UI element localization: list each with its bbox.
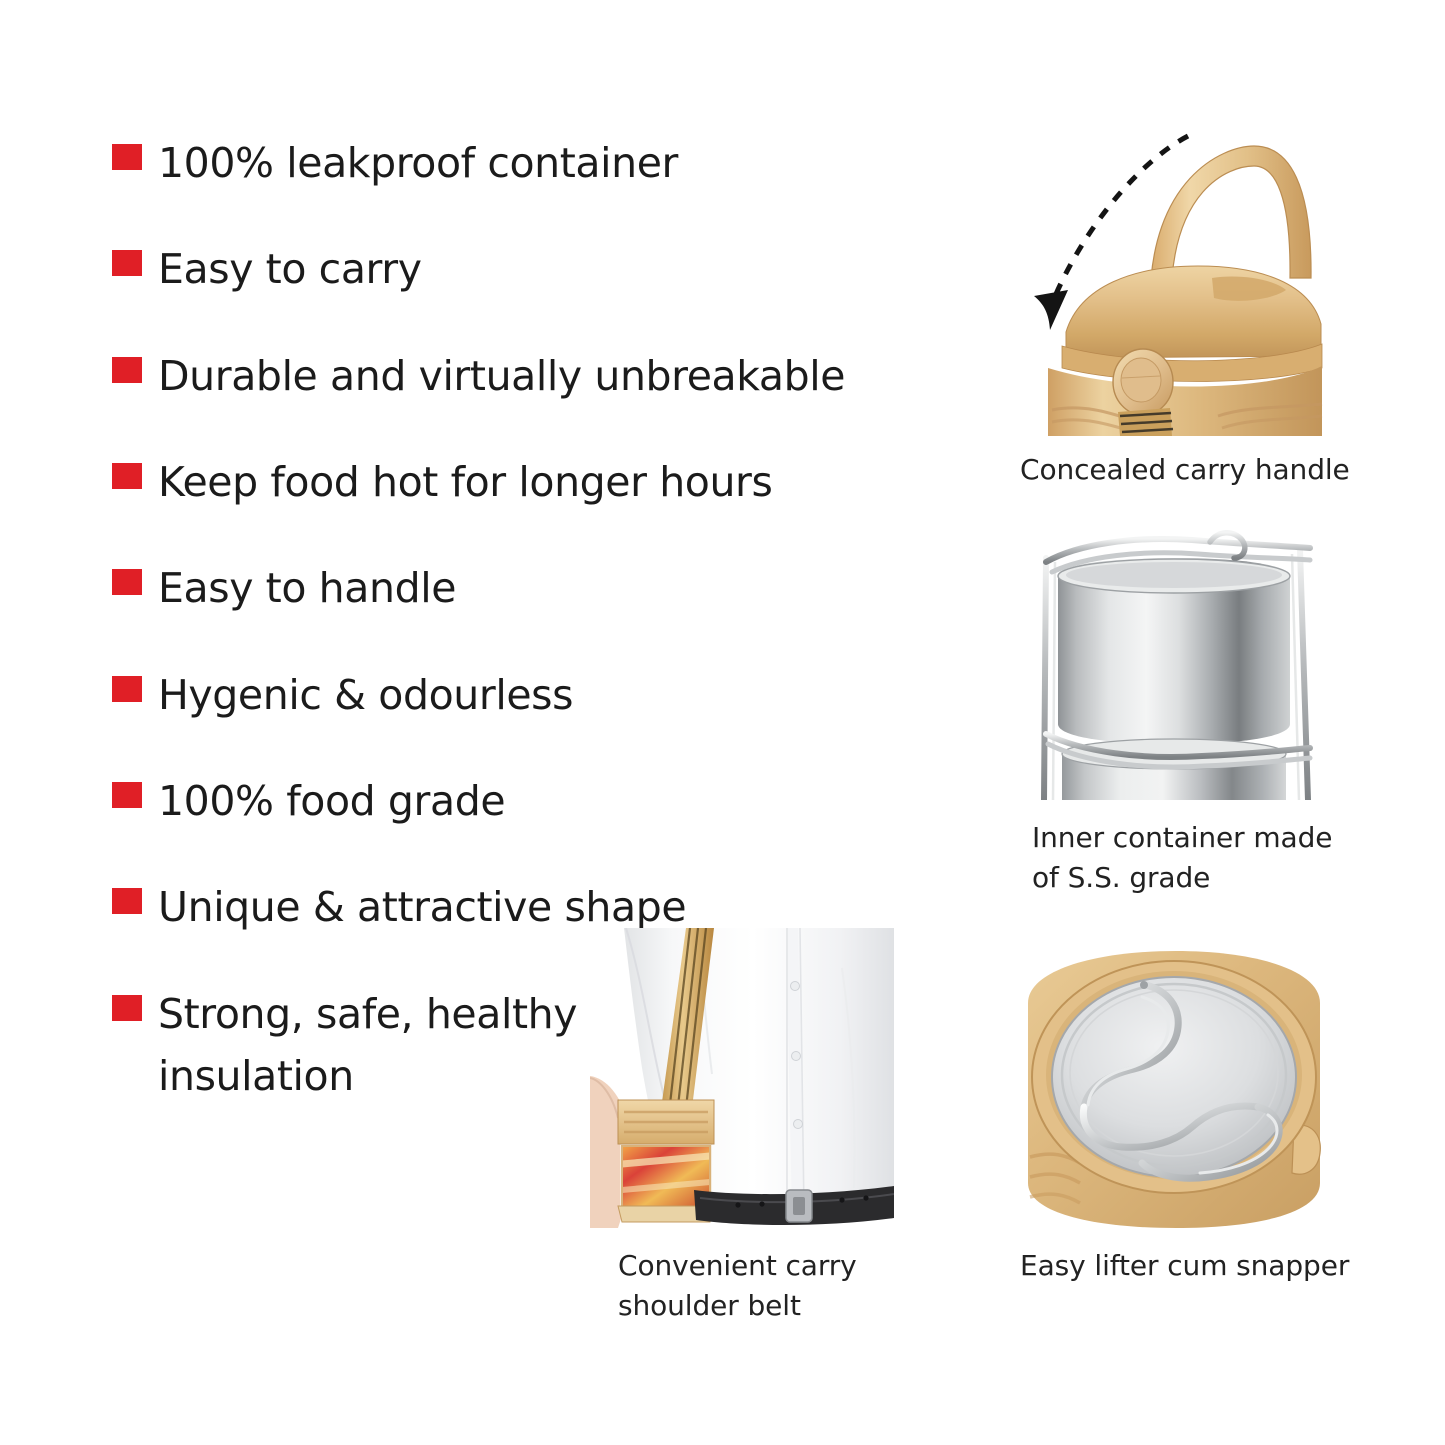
photo-concealed-carry-handle [1022, 118, 1326, 436]
list-item: Hygenic & odourless [112, 664, 902, 726]
tiffin-lid-with-carry-handle-photo [1022, 118, 1326, 436]
list-item: Durable and virtually unbreakable [112, 345, 902, 407]
feature-label: Easy to handle [158, 557, 456, 619]
feature-label: 100% food grade [158, 770, 505, 832]
red-square-bullet-icon [112, 782, 142, 808]
list-item: 100% leakproof container [112, 132, 902, 194]
list-item: Keep food hot for longer hours [112, 451, 902, 513]
red-square-bullet-icon [112, 357, 142, 383]
red-square-bullet-icon [112, 995, 142, 1021]
red-square-bullet-icon [112, 250, 142, 276]
feature-label: 100% leakproof container [158, 132, 678, 194]
open-tiffin-top-view-with-wire-lifter-photo [1022, 945, 1326, 1228]
red-square-bullet-icon [112, 569, 142, 595]
person-carrying-tiffin-with-shoulder-strap-photo [590, 928, 894, 1228]
feature-label: Durable and virtually unbreakable [158, 345, 845, 407]
photo-shoulder-belt [590, 928, 894, 1228]
red-square-bullet-icon [112, 888, 142, 914]
stacked-stainless-steel-containers-photo [1022, 528, 1326, 800]
feature-label: Easy to carry [158, 238, 422, 300]
feature-label: Keep food hot for longer hours [158, 451, 772, 513]
red-square-bullet-icon [112, 676, 142, 702]
list-item: 100% food grade [112, 770, 902, 832]
red-square-bullet-icon [112, 463, 142, 489]
list-item: Easy to handle [112, 557, 902, 619]
caption-shoulder-belt: Convenient carry shoulder belt [618, 1246, 918, 1326]
caption-concealed-carry-handle: Concealed carry handle [1020, 450, 1350, 490]
red-square-bullet-icon [112, 144, 142, 170]
feature-label: Hygenic & odourless [158, 664, 573, 726]
caption-lifter-snapper: Easy lifter cum snapper [1020, 1246, 1350, 1286]
caption-inner-container: Inner container made of S.S. grade [1032, 818, 1342, 898]
list-item: Easy to carry [112, 238, 902, 300]
photo-lifter-snapper [1022, 945, 1326, 1228]
photo-inner-container [1022, 528, 1326, 800]
